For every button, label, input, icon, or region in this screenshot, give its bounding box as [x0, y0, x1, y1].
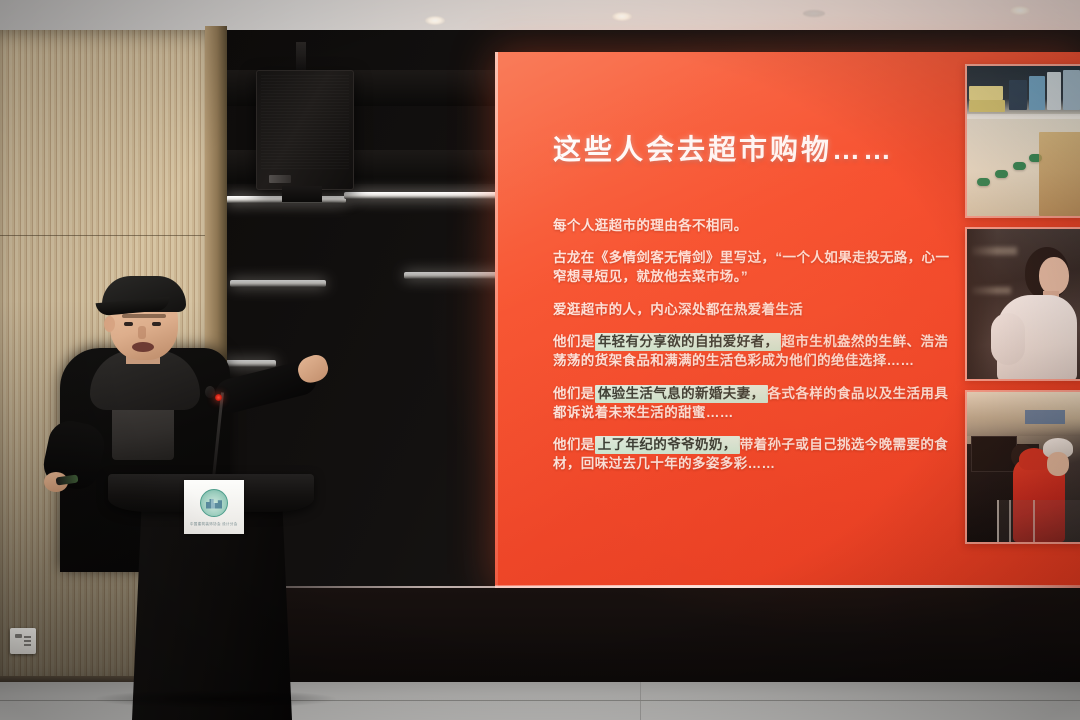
highlighted-phrase: 年轻有分享欲的自拍爱好者， — [595, 333, 782, 351]
screen-left-edge — [495, 52, 498, 588]
product-box — [969, 100, 1005, 112]
slide-photo-shelves — [965, 64, 1080, 218]
produce-tray — [1013, 162, 1026, 170]
organization-logo-icon — [200, 489, 228, 517]
podium: 中国建筑装饰协会 设计分会 — [108, 474, 314, 720]
podium-plaque: 中国建筑装饰协会 设计分会 — [184, 480, 244, 534]
speaker-mount-base — [282, 186, 322, 202]
ceiling-downlight — [1010, 6, 1030, 15]
paragraph-segment: 他们是 — [553, 334, 595, 349]
ceiling-downlight — [612, 12, 632, 21]
slide-photo-checkout — [965, 390, 1080, 544]
speaker-grill — [261, 75, 349, 169]
presenter-eye-right — [152, 322, 161, 326]
podium-body — [132, 506, 292, 720]
speaker-brand-logo — [269, 175, 291, 183]
smoke-detector-icon — [803, 10, 825, 17]
slide-body-text: 每个人逛超市的理由各不相同。 古龙在《多情剑客无情剑》里写过，“一个人如果走投无… — [553, 202, 953, 484]
presenter-mouth — [132, 342, 154, 352]
wall-outlet — [10, 628, 36, 654]
highlighted-phrase: 体验生活气息的新婚夫妻， — [595, 385, 768, 403]
product-box — [969, 86, 1003, 100]
shopping-cart — [997, 500, 1080, 544]
presentation-room-photo: 这些人会去超市购物…… 每个人逛超市的理由各不相同。 古龙在《多情剑客无情剑》里… — [0, 0, 1080, 720]
podium-shadow — [96, 690, 336, 708]
slide-photo-woman-shopper — [965, 227, 1080, 381]
paragraph-segment: 他们是 — [553, 437, 595, 452]
slide-paragraph-5: 他们是体验生活气息的新婚夫妻，各式各样的食品以及生活用具都诉说着未来生活的甜蜜…… — [553, 384, 953, 422]
microphone-status-led — [215, 394, 222, 401]
presenter-eye-left — [124, 322, 133, 326]
plaque-text: 中国建筑装饰协会 设计分会 — [190, 520, 238, 525]
slide-paragraph-1: 每个人逛超市的理由各不相同。 — [553, 216, 953, 235]
store-signage — [1025, 410, 1065, 424]
shopper-arm — [991, 313, 1025, 365]
presenter-ear — [104, 316, 115, 332]
produce-tray — [977, 178, 990, 186]
presenter-brow — [122, 314, 166, 318]
microphone-head — [205, 386, 215, 398]
slide-paragraph-4: 他们是年轻有分享欲的自拍爱好者，超市生机盎然的生鲜、浩浩荡荡的货架食品和满满的生… — [553, 332, 953, 370]
stage-skirt — [216, 588, 1080, 690]
product-box — [1047, 72, 1061, 110]
pa-speaker — [256, 70, 354, 190]
slide-photo-strip — [965, 52, 1080, 588]
speaker-mount-bracket — [296, 42, 306, 72]
shelf-edge — [967, 114, 1080, 119]
slide-paragraph-2: 古龙在《多情剑客无情剑》里写过，“一个人如果走投无路，心一窄想寻短见，就放他去菜… — [553, 248, 953, 286]
slide-paragraph-3: 爱逛超市的人，内心深处都在热爱着生活 — [553, 300, 953, 319]
paragraph-segment: 他们是 — [553, 386, 595, 401]
presenter-nose — [138, 326, 146, 339]
shopper-face — [1039, 257, 1069, 295]
paragraph-segment: 爱逛超市的人，内心深处都在热爱着生活 — [553, 302, 803, 317]
shopper-face — [1047, 452, 1069, 476]
paragraph-segment: 每个人逛超市的理由各不相同。 — [553, 218, 748, 233]
slide-paragraph-6: 他们是上了年纪的爷爷奶奶，带着孙子或自己挑选今晚需要的食材，回味过去几十年的多姿… — [553, 435, 953, 473]
produce-tray — [995, 170, 1008, 178]
paragraph-segment: 古龙在《多情剑客无情剑》里写过，“一个人如果走投无路，心一窄想寻短见，就放他去菜… — [553, 250, 949, 284]
floor-tile-line — [640, 682, 641, 720]
product-box — [1009, 80, 1027, 110]
highlighted-phrase: 上了年纪的爷爷奶奶， — [595, 436, 740, 454]
ceiling-downlight — [425, 16, 445, 25]
projection-screen: 这些人会去超市购物…… 每个人逛超市的理由各不相同。 古龙在《多情剑客无情剑》里… — [495, 52, 1080, 588]
wall-light-strip — [344, 192, 504, 199]
slide-title: 这些人会去超市购物…… — [553, 128, 894, 168]
wall-light-strip — [404, 272, 504, 279]
product-box — [1063, 70, 1080, 110]
product-box — [1029, 76, 1045, 110]
produce-area — [1039, 132, 1080, 216]
